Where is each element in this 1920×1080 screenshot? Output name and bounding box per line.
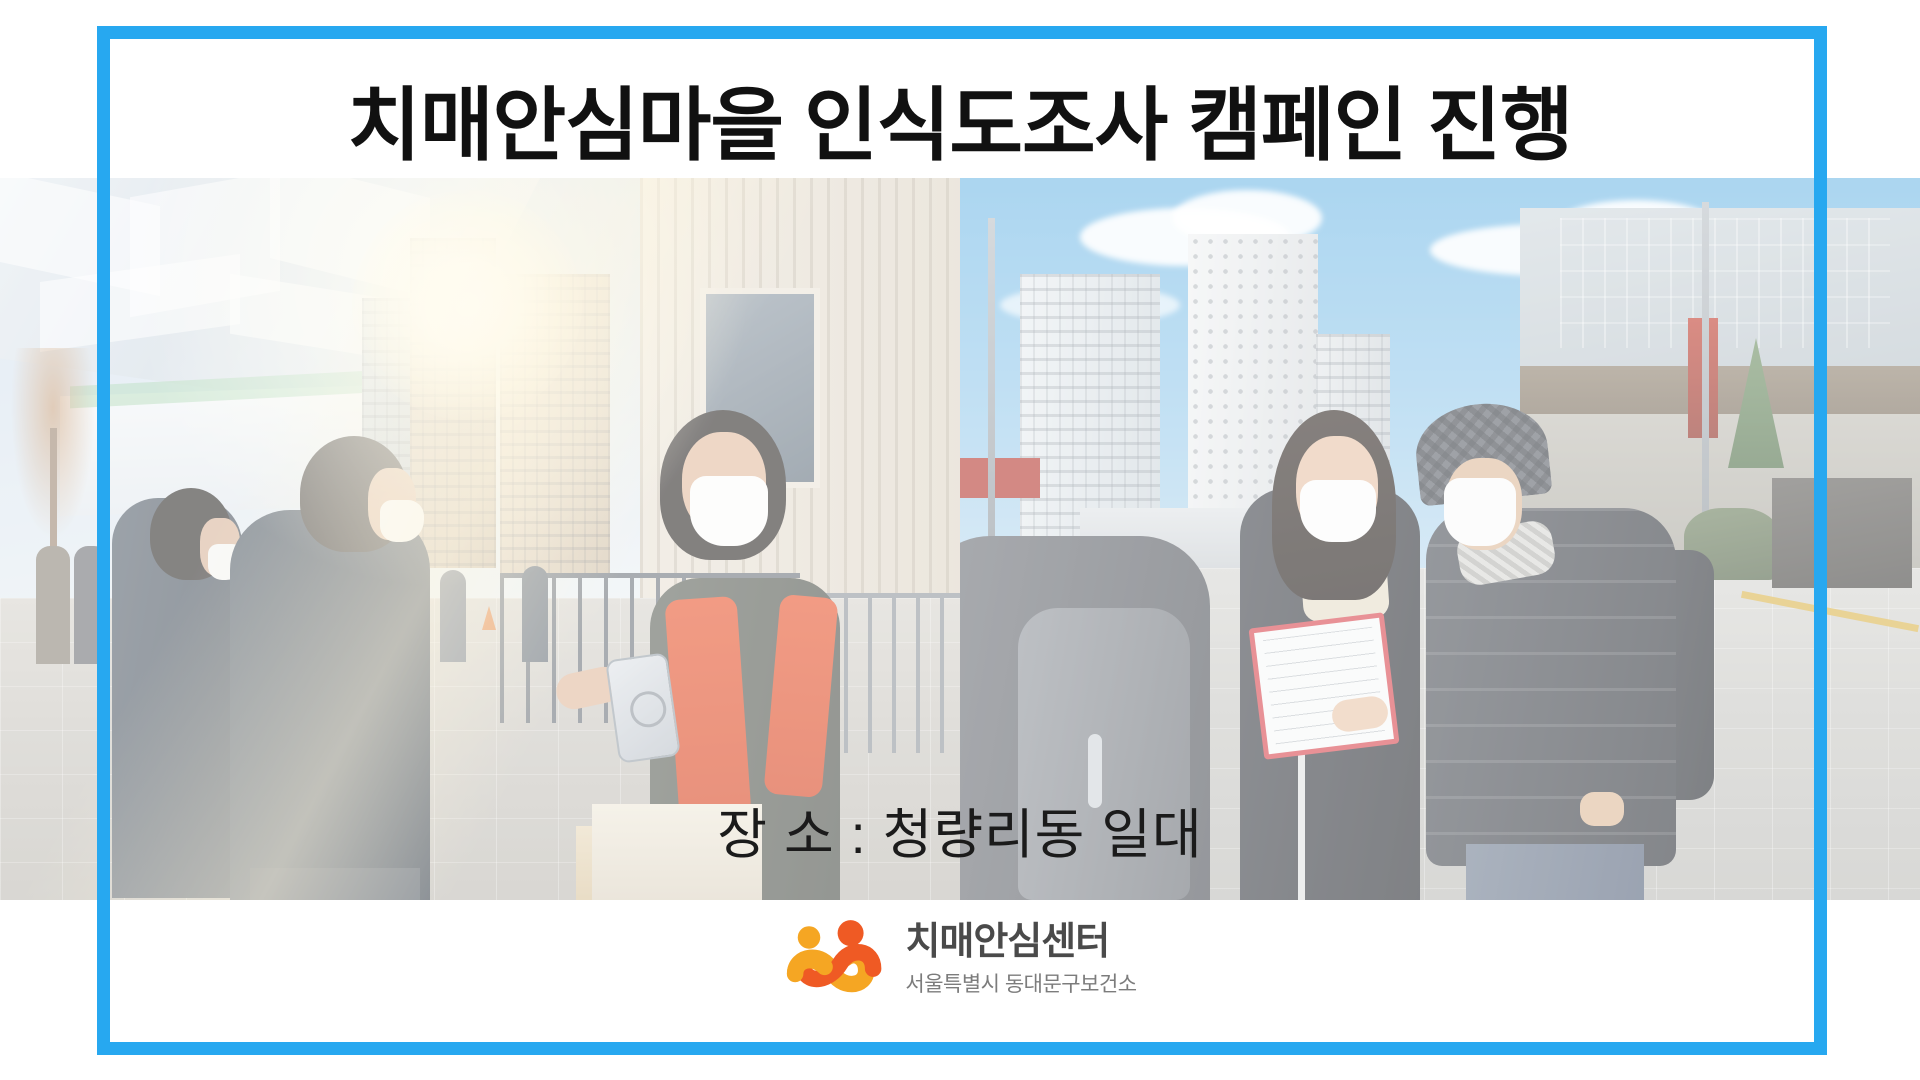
two-people-infinity-mark <box>783 916 887 1004</box>
logo-title: 치매안심센터 <box>905 922 1109 964</box>
page-title: 치매안심마을 인식도조사 캠페인 진행 <box>0 84 1920 168</box>
location-subtitle: 장 소 : 청량리동 일대 <box>0 790 1920 869</box>
organization-logo: 치매안심센터 서울특별시 동대문구보건소 <box>0 916 1920 1004</box>
logo-subtitle: 서울특별시 동대문구보건소 <box>905 968 1136 998</box>
poster-canvas: 치매안심마을 인식도조사 캠페인 진행 장 소 : 청량리동 일대 치매안심센터… <box>0 0 1920 1080</box>
logo-text-block: 치매안심센터 서울특별시 동대문구보건소 <box>905 922 1136 998</box>
